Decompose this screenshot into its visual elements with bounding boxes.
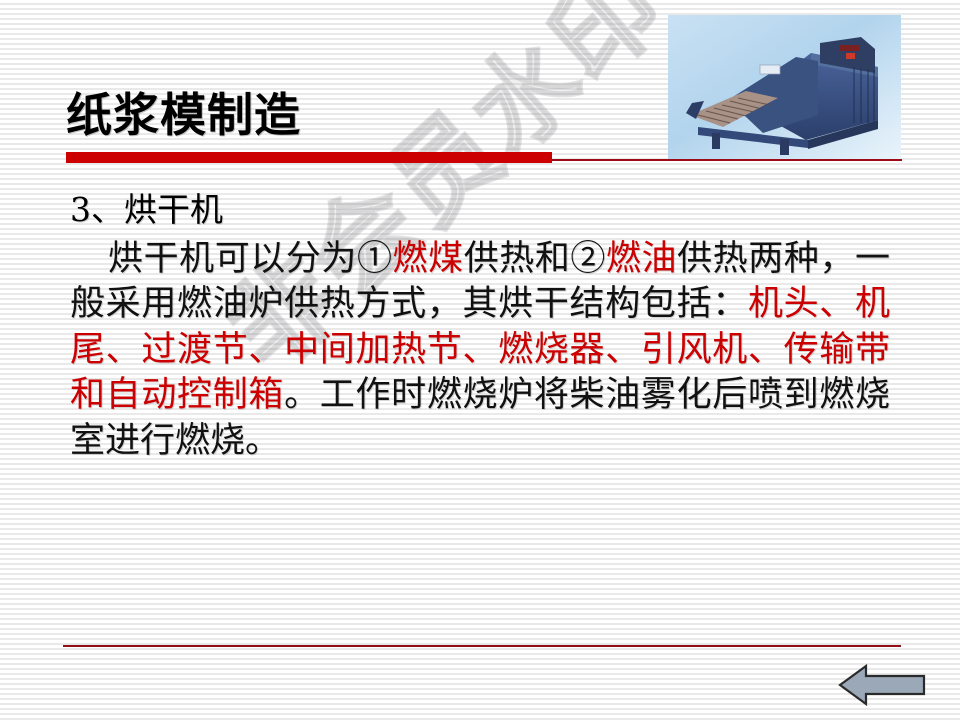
paragraph-segment-1: 燃煤: [393, 239, 464, 279]
paragraph-segment-3: 燃油: [606, 239, 677, 279]
footer-rule: [63, 645, 901, 647]
back-arrow-button[interactable]: [836, 662, 928, 708]
paragraph-segment-2: 供热和②: [464, 239, 606, 279]
page-title: 纸浆模制造: [66, 92, 301, 138]
tunnel-dryer-machine-photo: [668, 15, 901, 161]
section-heading: 3、烘干机: [70, 188, 910, 233]
arrow-left-icon[interactable]: [836, 662, 928, 708]
slide-canvas: 非会员水印: [0, 0, 960, 720]
slide-body: 3、烘干机 烘干机可以分为①燃煤供热和②燃油供热两种，一般采用燃油炉供热方式，其…: [70, 188, 910, 464]
paragraph-segment-0: 烘干机可以分为①: [108, 239, 393, 279]
dryer-illustration: [668, 15, 901, 161]
title-accent-bar: [66, 152, 552, 163]
body-paragraph: 烘干机可以分为①燃煤供热和②燃油供热两种，一般采用燃油炉供热方式，其烘干结构包括…: [70, 237, 890, 465]
title-thin-rule: [552, 159, 902, 161]
